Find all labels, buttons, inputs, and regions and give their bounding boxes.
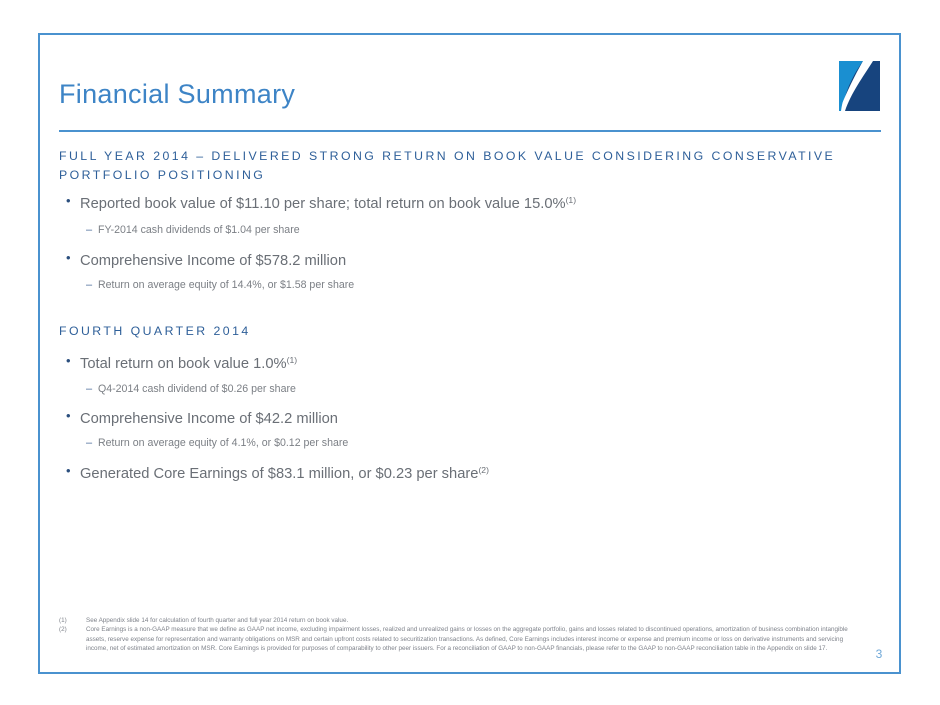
bullet-text: Total return on book value 1.0%(1): [80, 351, 297, 374]
company-logo: [839, 61, 880, 111]
title-divider-rule: [59, 130, 881, 132]
footnote-text: See Appendix slide 14 for calculation of…: [86, 616, 859, 625]
bullet-text: Comprehensive Income of $42.2 million: [80, 406, 338, 429]
footnote-ref: (1): [566, 195, 577, 205]
section-heading-fourth-quarter: FOURTH QUARTER 2014: [59, 322, 251, 341]
footnote-marker: (1): [59, 616, 81, 625]
bullet-glyph-icon: •: [66, 191, 71, 210]
footnote-ref: (2): [478, 465, 489, 475]
section-heading-full-year: FULL YEAR 2014 – DELIVERED STRONG RETURN…: [59, 147, 859, 185]
page-title: Financial Summary: [59, 79, 295, 110]
bullet-glyph-icon: •: [66, 406, 71, 425]
bullet-text: Reported book value of $11.10 per share;…: [80, 191, 576, 214]
footnote-marker: (2): [59, 625, 81, 634]
footnotes-block: (1) See Appendix slide 14 for calculatio…: [59, 616, 859, 653]
footnote-2: (2) Core Earnings is a non-GAAP measure …: [59, 625, 859, 653]
page-number: 3: [870, 647, 888, 661]
footnote-ref: (1): [287, 355, 298, 365]
sub-bullet-text: Return on average equity of 4.1%, or $0.…: [98, 435, 348, 451]
sub-bullet-text: FY-2014 cash dividends of $1.04 per shar…: [98, 222, 300, 238]
dash-glyph-icon: –: [86, 222, 92, 238]
footnote-1: (1) See Appendix slide 14 for calculatio…: [59, 616, 859, 625]
sub-bullet-text: Q4-2014 cash dividend of $0.26 per share: [98, 381, 296, 397]
bullet-text: Comprehensive Income of $578.2 million: [80, 248, 346, 271]
sub-bullet-text: Return on average equity of 14.4%, or $1…: [98, 277, 354, 293]
dash-glyph-icon: –: [86, 277, 92, 293]
footnote-text: Core Earnings is a non-GAAP measure that…: [86, 625, 859, 653]
bullet-glyph-icon: •: [66, 248, 71, 267]
bullet-glyph-icon: •: [66, 351, 71, 370]
presentation-slide: Financial Summary FULL YEAR 2014 – DELIV…: [0, 0, 940, 705]
bullet-text: Generated Core Earnings of $83.1 million…: [80, 461, 489, 484]
dash-glyph-icon: –: [86, 381, 92, 397]
bullet-glyph-icon: •: [66, 461, 71, 480]
dash-glyph-icon: –: [86, 435, 92, 451]
